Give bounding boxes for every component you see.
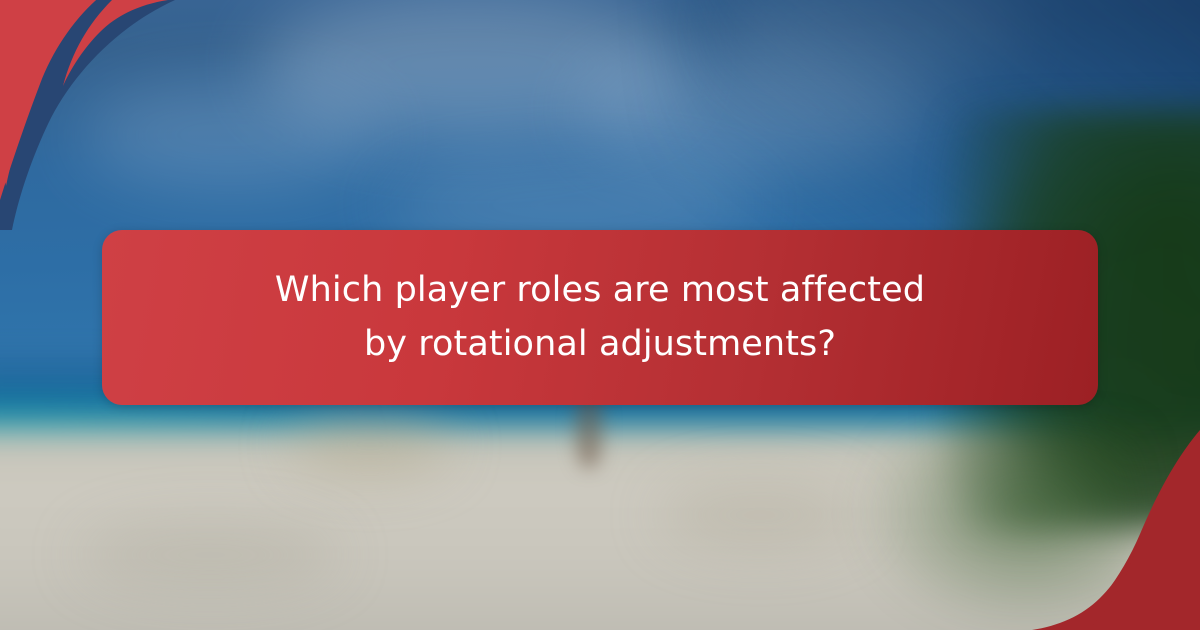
graphic-canvas: Which player roles are most affected by … [0,0,1200,630]
foliage-layer [860,430,1140,630]
sand-texture [290,415,450,475]
sand-texture [80,520,340,590]
question-text: Which player roles are most affected by … [250,264,950,370]
question-card: Which player roles are most affected by … [102,230,1098,405]
cloud-shape [80,80,380,190]
sand-texture [660,480,860,550]
